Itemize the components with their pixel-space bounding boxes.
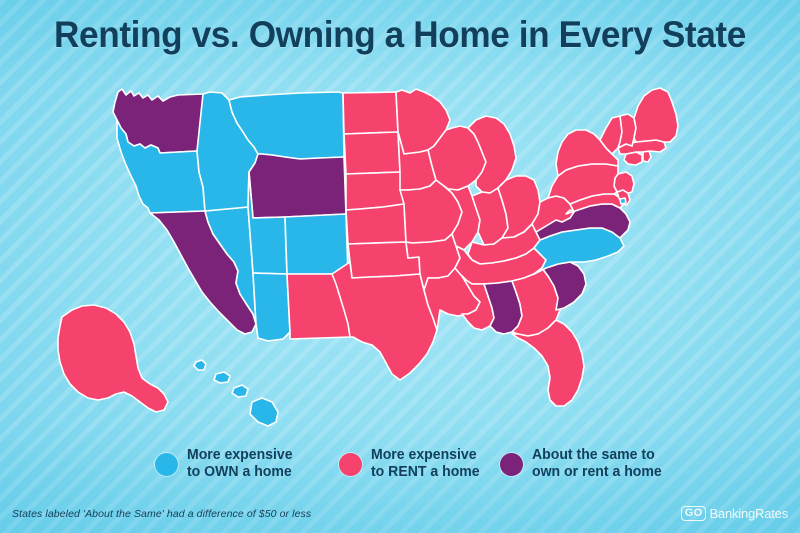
footnote: States labeled 'About the Same' had a di… [12, 508, 311, 520]
legend-swatch-own [155, 453, 178, 476]
state-nebraska[interactable] [346, 172, 404, 210]
legend-label-rent-line2: to RENT a home [371, 464, 480, 481]
state-district-of-columbia[interactable] [620, 198, 626, 204]
legend-swatch-same [500, 453, 523, 476]
logo-wordmark: BankingRates [709, 507, 788, 521]
state-south-dakota[interactable] [344, 132, 400, 174]
state-arizona[interactable] [253, 273, 290, 341]
us-choropleth-map [0, 62, 800, 437]
legend-item-rent[interactable]: More expensive to RENT a home [339, 447, 483, 481]
state-alaska[interactable] [58, 305, 168, 412]
legend-label-rent: More expensive to RENT a home [371, 447, 480, 481]
legend-label-same-line1: About the same to [532, 447, 662, 464]
legend-label-same-line2: own or rent a home [532, 464, 662, 481]
state-maine[interactable] [634, 88, 678, 142]
map-svg [0, 62, 800, 437]
legend-label-own-line2: to OWN a home [187, 464, 293, 481]
infographic-canvas: Renting vs. Owning a Home in Every State… [0, 0, 800, 533]
state-north-dakota[interactable] [343, 92, 398, 134]
legend-label-rent-line1: More expensive [371, 447, 480, 464]
legend-item-same[interactable]: About the same to own or rent a home [500, 447, 666, 481]
legend-swatch-rent [339, 453, 362, 476]
legend-label-same: About the same to own or rent a home [532, 447, 662, 481]
state-kansas[interactable] [346, 204, 406, 244]
legend-label-own: More expensive to OWN a home [187, 447, 293, 481]
state-wyoming[interactable] [249, 154, 346, 218]
state-hawaii[interactable] [194, 360, 278, 426]
logo-go-mark: GO [681, 506, 707, 521]
page-title: Renting vs. Owning a Home in Every State [20, 14, 780, 56]
map-legend: More expensive to OWN a home More expens… [0, 447, 800, 495]
state-colorado[interactable] [285, 214, 348, 274]
legend-label-own-line1: More expensive [187, 447, 293, 464]
state-rhode-island[interactable] [643, 151, 651, 162]
legend-item-own[interactable]: More expensive to OWN a home [155, 447, 296, 481]
gobankingrates-logo[interactable]: GO BankingRates [681, 506, 788, 521]
